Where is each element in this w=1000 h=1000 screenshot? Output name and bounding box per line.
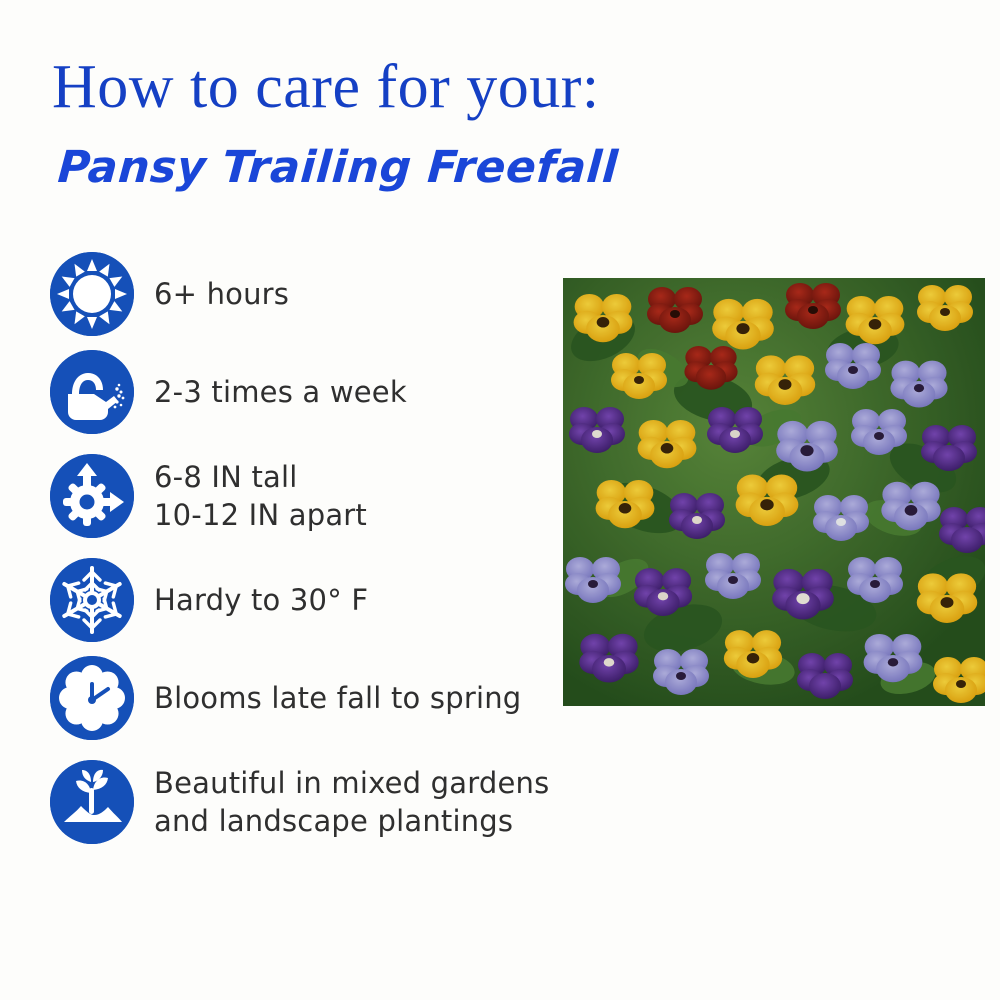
- plant-care-infographic: How to care for your: Pansy Trailing Fre…: [0, 0, 1000, 1000]
- care-label-line-2: 10-12 IN apart: [154, 496, 367, 534]
- care-label-garden-use: Beautiful in mixed gardens and landscape…: [154, 764, 549, 840]
- care-label-hardiness: Hardy to 30° F: [154, 581, 368, 619]
- care-label-line-1: 6+ hours: [154, 275, 289, 313]
- page-title: How to care for your:: [52, 52, 600, 122]
- care-label-line-1: Hardy to 30° F: [154, 581, 368, 619]
- flower-clock-icon: [50, 656, 134, 740]
- care-label-line-1: Blooms late fall to spring: [154, 679, 521, 717]
- care-label-bloom-time: Blooms late fall to spring: [154, 679, 521, 717]
- seedling-mound-icon: [50, 760, 134, 844]
- snowflake-icon: [50, 558, 134, 642]
- plant-name-subtitle: Pansy Trailing Freefall: [56, 140, 620, 196]
- care-label-watering: 2-3 times a week: [154, 373, 407, 411]
- pansy-trailing-freefall-photo: [563, 278, 985, 706]
- care-row-bloom-time: Blooms late fall to spring: [50, 656, 550, 740]
- watering-can-icon: [50, 350, 134, 434]
- care-row-watering: 2-3 times a week: [50, 350, 550, 434]
- care-label-line-1: Beautiful in mixed gardens: [154, 764, 549, 802]
- care-row-garden-use: Beautiful in mixed gardens and landscape…: [50, 754, 550, 850]
- sun-icon: [50, 252, 134, 336]
- care-row-hardiness: Hardy to 30° F: [50, 558, 550, 642]
- care-label-spacing: 6-8 IN tall 10-12 IN apart: [154, 458, 367, 534]
- care-label-line-2: and landscape plantings: [154, 802, 549, 840]
- spacing-gear-arrows-icon: [50, 454, 134, 538]
- care-label-sunlight: 6+ hours: [154, 275, 289, 313]
- care-label-line-1: 6-8 IN tall: [154, 458, 367, 496]
- care-label-line-1: 2-3 times a week: [154, 373, 407, 411]
- care-instructions-list: 6+ hours: [50, 252, 550, 864]
- care-row-sunlight: 6+ hours: [50, 252, 550, 336]
- care-row-spacing: 6-8 IN tall 10-12 IN apart: [50, 448, 550, 544]
